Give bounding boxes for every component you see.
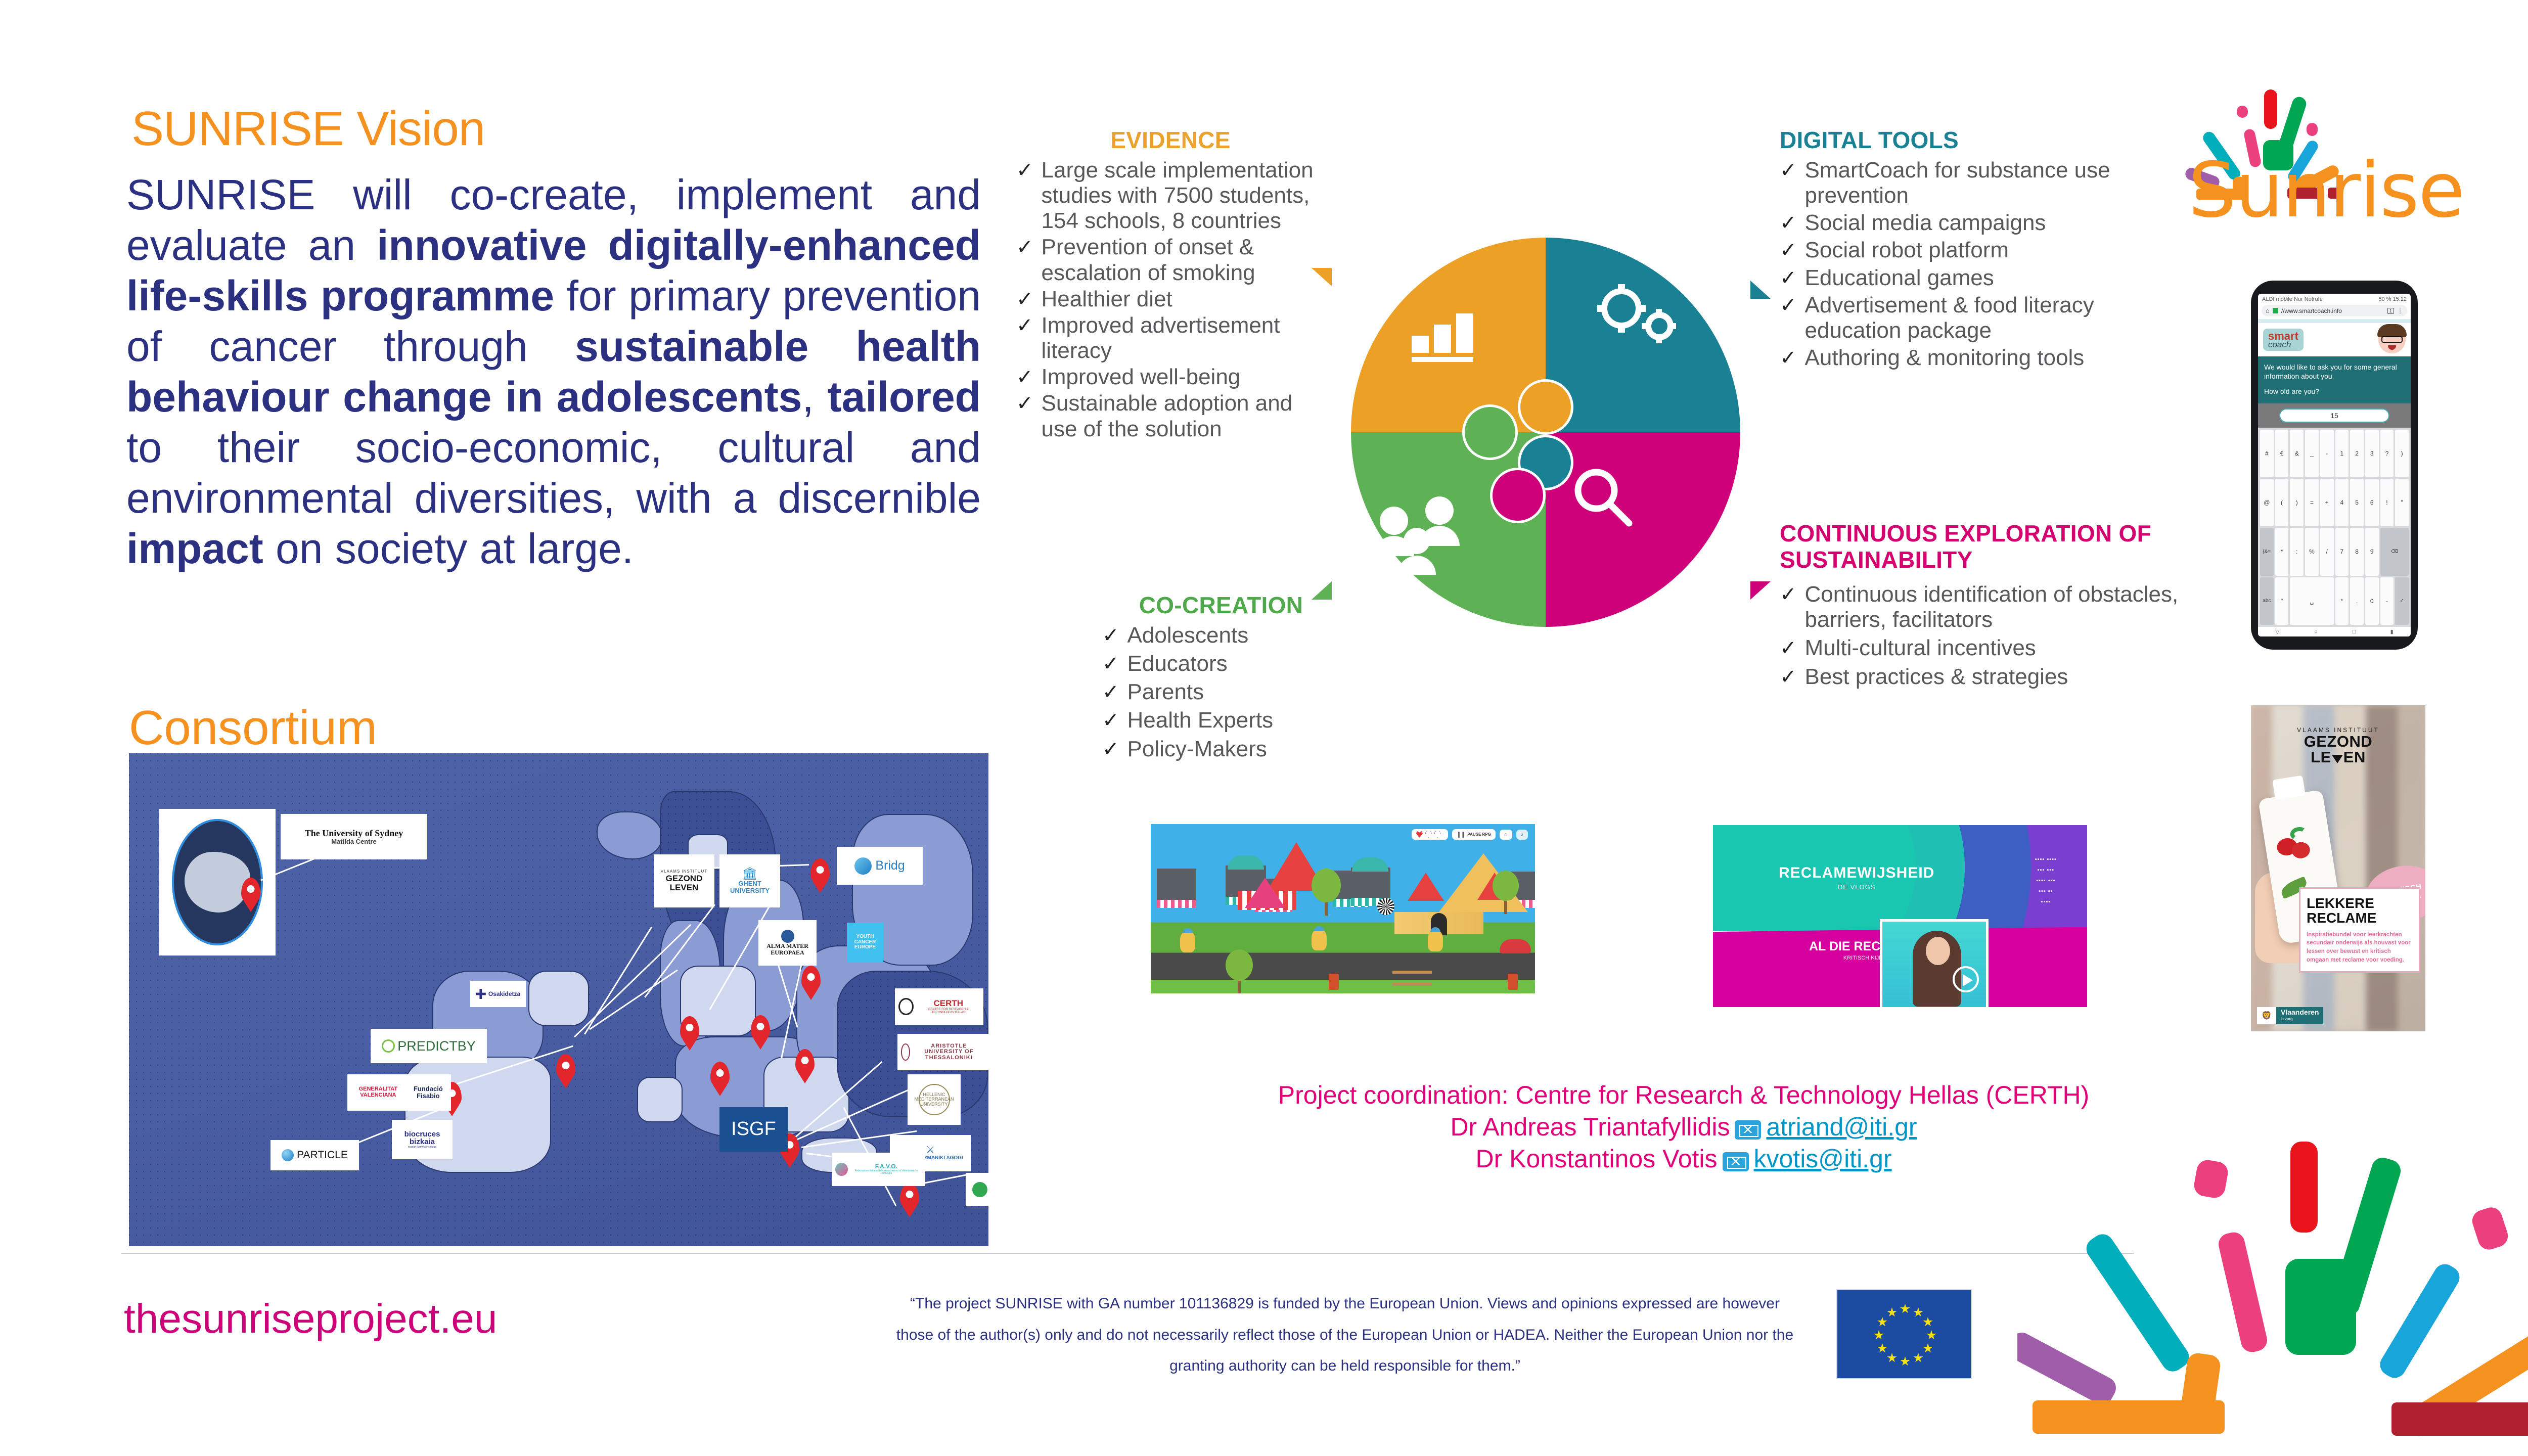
osakidetza-cross-icon [476, 989, 486, 999]
list-item-label: Parents [1127, 679, 1204, 705]
gears-icon [1546, 238, 1740, 432]
partner-logo-sub: CENTRE FOR RESEARCH & TECHNOLOGY-HELLAS [917, 1008, 980, 1015]
educational-game-screenshot: ❙❙ PAUSE RPG ⌂ ♪ [1151, 824, 1535, 993]
key[interactable]: ) [2290, 479, 2304, 526]
check-icon: ✓ [1780, 635, 1797, 661]
eu-star-icon [1900, 1304, 1910, 1314]
pause-icon: ❙❙ [1457, 831, 1465, 838]
pause-button[interactable]: ❙❙ PAUSE RPG [1452, 829, 1496, 840]
co-creation-list: ✓Adolescents ✓Educators ✓Parents ✓Health… [1102, 623, 1340, 762]
check-icon: ✓ [1016, 235, 1033, 260]
key[interactable]: 0 [2365, 577, 2379, 625]
key[interactable]: & [2290, 430, 2304, 477]
check-icon: ✓ [1102, 651, 1119, 676]
eu-star-icon [1877, 1343, 1887, 1353]
keyboard-row: @ ( ) = + 4 5 6 ! " [2260, 479, 2409, 526]
map-pin-estonia [810, 858, 830, 885]
list-item: ✓Educators [1102, 651, 1340, 676]
question-intro: We would like to ask you for some genera… [2264, 363, 2397, 380]
list-item-label: Health Experts [1127, 708, 1274, 733]
partner-logo-label: Osakidetza [488, 991, 520, 997]
key[interactable]: 6 [2365, 479, 2379, 526]
key[interactable]: 8 [2350, 528, 2364, 575]
evidence-section: EVIDENCE ✓Large scale implementation stu… [1016, 126, 1325, 443]
game-bumper-car [1500, 939, 1531, 953]
list-item-label: Advertisement & food literacy education … [1805, 293, 2164, 343]
eu-star-icon [1913, 1307, 1923, 1317]
game-character [1428, 930, 1443, 951]
question-text: How old are you? [2264, 387, 2405, 396]
media-title-1: RECLAMEWIJSHEID DE VLOGS [1779, 864, 1934, 891]
game-ferris-wheel [1377, 898, 1394, 915]
person-silhouette [1913, 931, 1961, 1007]
partner-logo-ghent-university: 🏛 GHENT UNIVERSITY [719, 854, 780, 907]
game-dome [1352, 857, 1388, 872]
cover-body-text: Inspiratiebundel voor leerkrachten secun… [2307, 931, 2413, 965]
cover-title-line1: LEKKERE [2307, 895, 2374, 911]
media-keyword-cloud: ▪▪▪▪ ▪▪▪▪▪▪▪ ▪▪▪▪▪▪▪ ▪▪▪▪▪▪ ▪▪▪▪▪▪ [2035, 854, 2057, 907]
key[interactable]: ! [2380, 479, 2394, 526]
home-circle-icon[interactable]: ○ [2314, 629, 2318, 635]
avatar-mouth [2388, 345, 2396, 350]
home-icon[interactable]: ⌂ [2266, 307, 2270, 314]
keyboard-icon[interactable]: ▮ [2390, 628, 2394, 635]
list-item: ✓Improved advertisement literacy [1016, 313, 1325, 363]
key[interactable]: " [2395, 479, 2409, 526]
sustainability-list: ✓Continuous identification of obstacles,… [1780, 582, 2179, 690]
coordinator-2-email[interactable]: kvotis@iti.gr [1754, 1145, 1892, 1173]
partner-logo-pasykaf: PASYKAF THE CYPRUS ASSOCIATION OF CANCER… [966, 1173, 988, 1206]
partner-logo-label: ARISTOTLE UNIVERSITY OF THESSALONIKI [913, 1043, 985, 1061]
check-icon: ✓ [1102, 737, 1119, 762]
heart-empty-icon [1434, 831, 1441, 838]
media-title-1-text: RECLAMEWIJSHEID [1779, 864, 1934, 881]
status-carrier: ALDI mobile Nur Notrufe [2262, 296, 2323, 302]
key[interactable]: - [2320, 430, 2334, 477]
certh-emblem-icon [898, 998, 914, 1015]
evidence-heading: EVIDENCE [1016, 126, 1325, 154]
list-item-label: SmartCoach for substance use prevention [1805, 158, 2164, 208]
check-icon: ✓ [1780, 210, 1797, 236]
keyboard-row: abc " ␣ * . 0 - ✓ [2260, 577, 2409, 625]
key[interactable]: " [2275, 577, 2289, 625]
key[interactable]: 4 [2335, 479, 2349, 526]
partner-logo-label: Bridg [875, 859, 905, 872]
game-tree [1226, 949, 1253, 993]
check-icon: ✓ [1016, 158, 1033, 183]
list-item: ✓Continuous identification of obstacles,… [1780, 582, 2179, 632]
game-hud: ❙❙ PAUSE RPG ⌂ ♪ [1412, 829, 1528, 840]
list-item: ✓Health Experts [1102, 708, 1340, 733]
list-item: ✓Improved well-being [1016, 365, 1325, 390]
game-tent-pink [1245, 878, 1285, 908]
list-item-label: Prevention of onset & escalation of smok… [1042, 235, 1325, 285]
coordinator-1-email[interactable]: atriand@iti.gr [1766, 1113, 1917, 1141]
key[interactable]: * [2335, 577, 2349, 625]
vision-section: SUNRISE Vision SUNRISE will co-create, i… [126, 101, 981, 574]
key[interactable]: 3 [2365, 430, 2379, 477]
email-icon [1735, 1120, 1761, 1140]
puzzle-quadrant-digital-tools [1546, 238, 1740, 432]
cover-title-line2: RECLAME [2307, 910, 2376, 926]
check-icon: ✓ [1016, 313, 1033, 338]
key[interactable]: - [2380, 577, 2394, 625]
logo-line2a: LE [2311, 748, 2331, 766]
abc-key[interactable]: abc [2260, 577, 2274, 625]
url-text: //www.smartcoach.info [2281, 307, 2384, 314]
list-item-label: Adolescents [1127, 623, 1249, 648]
partner-logo-favo: F.A.V.O. Federazione italiana delle Asso… [832, 1153, 925, 1186]
list-item: ✓Adolescents [1102, 623, 1340, 648]
eu-star-icon [1926, 1330, 1936, 1340]
bar-chart-icon [1351, 238, 1546, 432]
on-screen-keyboard[interactable]: # € & _ - 1 2 3 ? ) @ ( ) = + 4 [2258, 428, 2411, 627]
check-icon: ✓ [1780, 158, 1797, 183]
cover-title-panel: LEKKERE RECLAME Inspiratiebundel voor le… [2299, 887, 2420, 973]
list-item: ✓Parents [1102, 679, 1340, 705]
eu-star-icon [1887, 1353, 1897, 1363]
game-tree [1312, 869, 1341, 916]
partner-logo-sub: Fundació Fisabio [409, 1085, 447, 1099]
enter-key[interactable]: ✓ [2395, 577, 2409, 625]
logo-wordmark: Sunrise [2188, 147, 2464, 235]
list-item: ✓Multi-cultural incentives [1780, 635, 2179, 661]
check-icon: ✓ [1016, 391, 1033, 416]
eu-star-icon [1887, 1307, 1897, 1317]
check-icon: ✓ [1780, 293, 1797, 318]
partner-logo-gezond-leven: VLAAMS INSTITUUT GEZOND LEVEN [654, 854, 714, 907]
play-icon[interactable] [1953, 966, 1979, 992]
list-item: ✓SmartCoach for substance use prevention [1780, 158, 2164, 208]
partner-logo-sydney: The University of Sydney Matilda Centre [281, 814, 427, 859]
vlaanderen-sub: is zorg [2281, 1017, 2319, 1021]
alma-mater-seal-icon [781, 930, 794, 943]
list-item: ✓Large scale implementation studies with… [1016, 158, 1325, 234]
coordination-line: Project coordination: Centre for Researc… [1153, 1079, 2215, 1111]
consortium-title: Consortium [129, 700, 377, 756]
puzzle-knob-left [1462, 404, 1518, 460]
bank-building-icon: 🏛 [742, 868, 757, 880]
partner-logo-biocruces: biocruces bizkaia osasun ikerketa instit… [392, 1120, 453, 1159]
arrow-teal [1750, 281, 1771, 299]
list-item-label: Sustainable adoption and use of the solu… [1042, 391, 1325, 441]
sound-icon: ♪ [1521, 832, 1524, 838]
partner-logo-osakidetza: Osakidetza [470, 981, 526, 1007]
list-item-label: Continuous identification of obstacles, … [1805, 582, 2179, 632]
partner-logo-auth: ARISTOTLE UNIVERSITY OF THESSALONIKI [897, 1034, 988, 1070]
phone-screen: ALDI mobile Nur Notrufe 50 % 15:12 ⌂ //w… [2258, 294, 2411, 636]
list-item: ✓Healthier diet [1016, 287, 1325, 312]
space-key[interactable]: ␣ [2290, 577, 2333, 625]
digital-tools-list: ✓SmartCoach for substance use prevention… [1780, 158, 2164, 371]
auth-emblem-icon [901, 1043, 910, 1061]
back-icon[interactable]: ▽ [2275, 628, 2279, 635]
pause-label: PAUSE RPG [1467, 832, 1491, 837]
game-dome [1228, 855, 1264, 870]
game-bench [1392, 971, 1432, 986]
lives-indicator [1412, 829, 1448, 840]
sound-button[interactable]: ♪ [1516, 830, 1528, 840]
logo-line2b: EN [2343, 748, 2366, 766]
people-group-icon [1351, 432, 1546, 627]
partner-logo-label: ALMA MATER EUROPAEA [762, 943, 813, 955]
predictby-icon [382, 1039, 395, 1053]
partner-logo-generalitat-valenciana: GENERALITAT VALENCIANA Fundació Fisabio [347, 1074, 451, 1111]
logo-line1: GEZOND [2304, 733, 2373, 750]
lekkere-reclame-cover: VLAAMS INSTITUUT GEZOND LEEN KRITISCH GE… [2251, 705, 2425, 1031]
partner-logo-label: GENERALITAT VALENCIANA [351, 1086, 405, 1098]
game-booth [1351, 868, 1390, 899]
browser-address-bar[interactable]: ⌂ //www.smartcoach.info 1 ⋮ [2262, 305, 2407, 316]
vlaanderen-label: Vlaanderen [2281, 1008, 2319, 1016]
game-tent-small [1408, 873, 1444, 901]
eu-star-icon [1874, 1330, 1884, 1340]
status-battery-time: 50 % 15:12 [2378, 296, 2407, 302]
key[interactable]: ? [2380, 430, 2394, 477]
key[interactable]: 9 [2365, 528, 2379, 575]
list-item-label: Educators [1127, 651, 1228, 676]
list-item: ✓Prevention of onset & escalation of smo… [1016, 235, 1325, 285]
question-panel: We would like to ask you for some genera… [2258, 356, 2411, 403]
poster-root: SUNRISE Vision SUNRISE will co-create, i… [0, 0, 2528, 1456]
phone-status-bar: ALDI mobile Nur Notrufe 50 % 15:12 [2258, 294, 2411, 304]
game-character [1180, 931, 1195, 952]
partner-logo-isgf: ISGF [719, 1107, 788, 1152]
partner-logo-label: PARTICLE [297, 1150, 348, 1161]
home-icon: ⌂ [1504, 832, 1508, 838]
check-icon: ✓ [1780, 664, 1797, 690]
partner-logo-label: GEZOND LEVEN [657, 874, 711, 892]
partner-logo-sub: osasun ikerketa institutua [408, 1146, 436, 1149]
digital-tools-section: DIGITAL TOOLS ✓SmartCoach for substance … [1780, 126, 2164, 373]
gezond-leven-logo: VLAAMS INSTITUUT GEZOND LEEN [2251, 726, 2425, 765]
arrow-magenta [1750, 581, 1771, 600]
puzzle-knob-bottom [1490, 468, 1546, 523]
game-bollard [1508, 974, 1518, 990]
recents-icon[interactable]: □ [2352, 629, 2356, 635]
check-icon: ✓ [1102, 679, 1119, 705]
key[interactable]: ) [2395, 430, 2409, 477]
backspace-key[interactable]: ⌫ [2380, 528, 2409, 575]
face [1926, 937, 1950, 965]
evidence-list: ✓Large scale implementation studies with… [1016, 158, 1325, 442]
vlaanderen-logo: 🦁 Vlaanderen is zorg [2257, 1007, 2323, 1024]
page-accent-bar [2258, 319, 2411, 323]
puzzle-quadrant-evidence [1351, 238, 1546, 432]
key[interactable]: ( [2275, 479, 2289, 526]
heart-empty-icon [1425, 831, 1432, 838]
video-thumbnail[interactable] [1880, 919, 1989, 1007]
funding-disclaimer: “The project SUNRISE with GA number 1011… [890, 1288, 1800, 1382]
keyboard-row: # € & _ - 1 2 3 ? ) [2260, 430, 2409, 477]
key[interactable]: 7 [2335, 528, 2349, 575]
puzzle-wheel-diagram [1351, 238, 1740, 627]
list-item-label: Authoring & monitoring tools [1805, 345, 2085, 371]
triangle-icon [2332, 755, 2343, 763]
key[interactable]: # [2260, 430, 2274, 477]
keyboard-row: {&= * : % / 7 8 9 ⌫ [2260, 528, 2409, 575]
smartcoach-phone-mockup: ALDI mobile Nur Notrufe 50 % 15:12 ⌂ //w… [2251, 281, 2418, 650]
key[interactable]: % [2305, 528, 2319, 575]
partner-logo-label: YOUTH CANCER EUROPE [850, 934, 880, 950]
list-item-label: Policy-Makers [1127, 737, 1267, 762]
list-item-label: Multi-cultural incentives [1805, 635, 2036, 661]
key[interactable]: * [2275, 528, 2289, 575]
game-bollard [1329, 974, 1339, 990]
partner-logo-label: ISGF [731, 1119, 776, 1140]
lion-icon: 🦁 [2257, 1007, 2276, 1024]
list-item: ✓Advertisement & food literacy education… [1780, 293, 2164, 343]
eu-star-icon [1877, 1317, 1887, 1327]
email-icon [1723, 1152, 1749, 1171]
digital-tools-heading: DIGITAL TOOLS [1780, 126, 2164, 154]
footer-divider [121, 1253, 2134, 1254]
key[interactable]: + [2320, 479, 2334, 526]
partner-logo-certh: CERTH CENTRE FOR RESEARCH & TECHNOLOGY-H… [895, 988, 983, 1025]
puzzle-quadrant-sustainability [1546, 432, 1740, 627]
lock-icon [2273, 308, 2278, 313]
coach-avatar [2378, 326, 2406, 353]
list-item: ✓Best practices & strategies [1780, 664, 2179, 690]
check-icon: ✓ [1102, 623, 1119, 648]
partner-logo-label: PREDICTBY [397, 1039, 476, 1053]
partner-logo-hmu: HELLENIC MEDITERRANEAN UNIVERSITY [908, 1074, 961, 1125]
ea-emblem-icon: ⚔ [926, 1145, 935, 1156]
list-item: ✓Policy-Makers [1102, 737, 1340, 762]
avatar-hair [2377, 324, 2407, 337]
phone-navigation-bar[interactable]: ▽ ○ □ ▮ [2258, 627, 2411, 636]
favo-emblem-icon [835, 1163, 848, 1176]
key[interactable]: 1 [2335, 430, 2349, 477]
co-creation-section: CO-CREATION ✓Adolescents ✓Educators ✓Par… [1102, 591, 1340, 765]
key-symbols[interactable]: {&= [2260, 528, 2274, 575]
list-item: ✓Educational games [1780, 265, 2164, 291]
list-item-label: Educational games [1805, 265, 1994, 291]
media-title-1-sub: DE VLOGS [1779, 883, 1934, 891]
eu-star-icon [1923, 1317, 1933, 1327]
bridg-circle-icon [854, 857, 872, 875]
key[interactable]: : [2290, 528, 2304, 575]
key[interactable]: € [2275, 430, 2289, 477]
check-icon: ✓ [1016, 365, 1033, 390]
check-icon: ✓ [1016, 287, 1033, 312]
puzzle-knob-top [1518, 379, 1573, 435]
partner-logo-label: The University of Sydney [305, 829, 403, 838]
key[interactable]: / [2320, 528, 2334, 575]
check-icon: ✓ [1780, 265, 1797, 291]
page-title: SUNRISE Vision [126, 101, 981, 157]
partner-logo-sub: Matilda Centre [331, 838, 377, 845]
puzzle-quadrant-co-creation [1351, 432, 1546, 627]
answer-row: 15 [2258, 403, 2411, 428]
list-item-label: Healthier diet [1042, 287, 1172, 312]
game-booth [1157, 869, 1196, 901]
vision-paragraph: SUNRISE will co-create, implement and ev… [126, 170, 981, 574]
tab-count-badge[interactable]: 1 [2387, 308, 2394, 314]
partner-logo-youth-cancer-europe: YOUTH CANCER EUROPE [847, 923, 883, 962]
list-item-label: Social robot platform [1805, 238, 2009, 263]
game-tree [1493, 871, 1519, 914]
sustainability-heading: CONTINUOUS EXPLORATION OF SUSTAINABILITY [1780, 521, 2179, 573]
key[interactable]: @ [2260, 479, 2274, 526]
partner-logo-label: CERTH [917, 999, 980, 1008]
heart-full-icon [1416, 831, 1423, 838]
list-item-label: Improved advertisement literacy [1042, 313, 1325, 363]
particle-icon [282, 1149, 294, 1161]
partner-logo-bridg: Bridg [837, 847, 923, 885]
age-input[interactable]: 15 [2279, 408, 2389, 423]
list-item: ✓Social media campaigns [1780, 210, 2164, 236]
map-pin-cyprus [900, 1183, 919, 1209]
overflow-menu-icon[interactable]: ⋮ [2397, 307, 2403, 314]
partner-logo-particle: PARTICLE [270, 1140, 359, 1170]
co-creation-heading: CO-CREATION [1102, 591, 1340, 619]
australia-inset-map [159, 809, 276, 955]
check-icon: ✓ [1780, 582, 1797, 607]
partner-logo-predictby: PREDICTBY [371, 1029, 487, 1063]
arrow-green [1312, 581, 1332, 600]
corner-sunburst-decoration [2017, 1132, 2528, 1456]
eu-flag [1836, 1289, 1972, 1379]
key[interactable]: = [2305, 479, 2319, 526]
list-item: ✓Sustainable adoption and use of the sol… [1016, 391, 1325, 441]
eu-star-icon [1913, 1353, 1923, 1363]
magnifier-icon [1546, 432, 1740, 627]
consortium-map: The University of Sydney Matilda Centre … [129, 753, 988, 1246]
key[interactable]: _ [2305, 430, 2319, 477]
partner-logo-label: GHENT UNIVERSITY [723, 880, 777, 894]
list-item-label: Best practices & strategies [1805, 664, 2068, 690]
game-character [1312, 929, 1327, 950]
partner-logo-label: biocruces bizkaia [395, 1130, 449, 1147]
smartcoach-logo: smart coach [2263, 329, 2304, 351]
list-item-label: Large scale implementation studies with … [1042, 158, 1325, 234]
arrow-orange [1312, 268, 1332, 286]
list-item: ✓Authoring & monitoring tools [1780, 345, 2164, 371]
list-item-label: Social media campaigns [1805, 210, 2046, 236]
avatar-glasses [2381, 336, 2403, 343]
eu-star-icon [1923, 1343, 1933, 1353]
sunrise-logo: Sunrise [2184, 48, 2488, 215]
sustainability-section: CONTINUOUS EXPLORATION OF SUSTAINABILITY… [1780, 521, 2179, 693]
list-item-label: Improved well-being [1042, 365, 1241, 390]
bottle-cap [2272, 776, 2306, 800]
partner-logo-alma-mater: ALMA MATER EUROPAEA [758, 920, 817, 966]
list-item: ✓Social robot platform [1780, 238, 2164, 263]
check-icon: ✓ [1780, 345, 1797, 371]
partner-logo-sub: Federazione italiana delle Associazioni … [851, 1170, 922, 1175]
smartcoach-banner: smart coach [2258, 323, 2411, 356]
check-icon: ✓ [1780, 238, 1797, 263]
key[interactable]: 5 [2350, 479, 2364, 526]
reclamewijsheid-media-screenshot: RECLAMEWIJSHEID DE VLOGS ▪▪▪▪ ▪▪▪▪▪▪▪ ▪▪… [1713, 825, 2087, 1007]
coordinator-1-name: Dr Andreas Triantafyllidis [1450, 1113, 1730, 1141]
project-website-link[interactable]: thesunriseproject.eu [124, 1295, 497, 1343]
coordinator-2-name: Dr Konstantinos Votis [1475, 1145, 1717, 1173]
partner-logo-label: HELLENIC MEDITERRANEAN UNIVERSITY [919, 1084, 950, 1115]
check-icon: ✓ [1102, 708, 1119, 733]
home-button[interactable]: ⌂ [1500, 830, 1512, 840]
key[interactable]: 2 [2350, 430, 2364, 477]
pasykaf-emblem-icon [972, 1182, 987, 1197]
map-pin-spain [556, 1054, 575, 1080]
eu-star-icon [1900, 1356, 1910, 1367]
key[interactable]: . [2350, 577, 2364, 625]
